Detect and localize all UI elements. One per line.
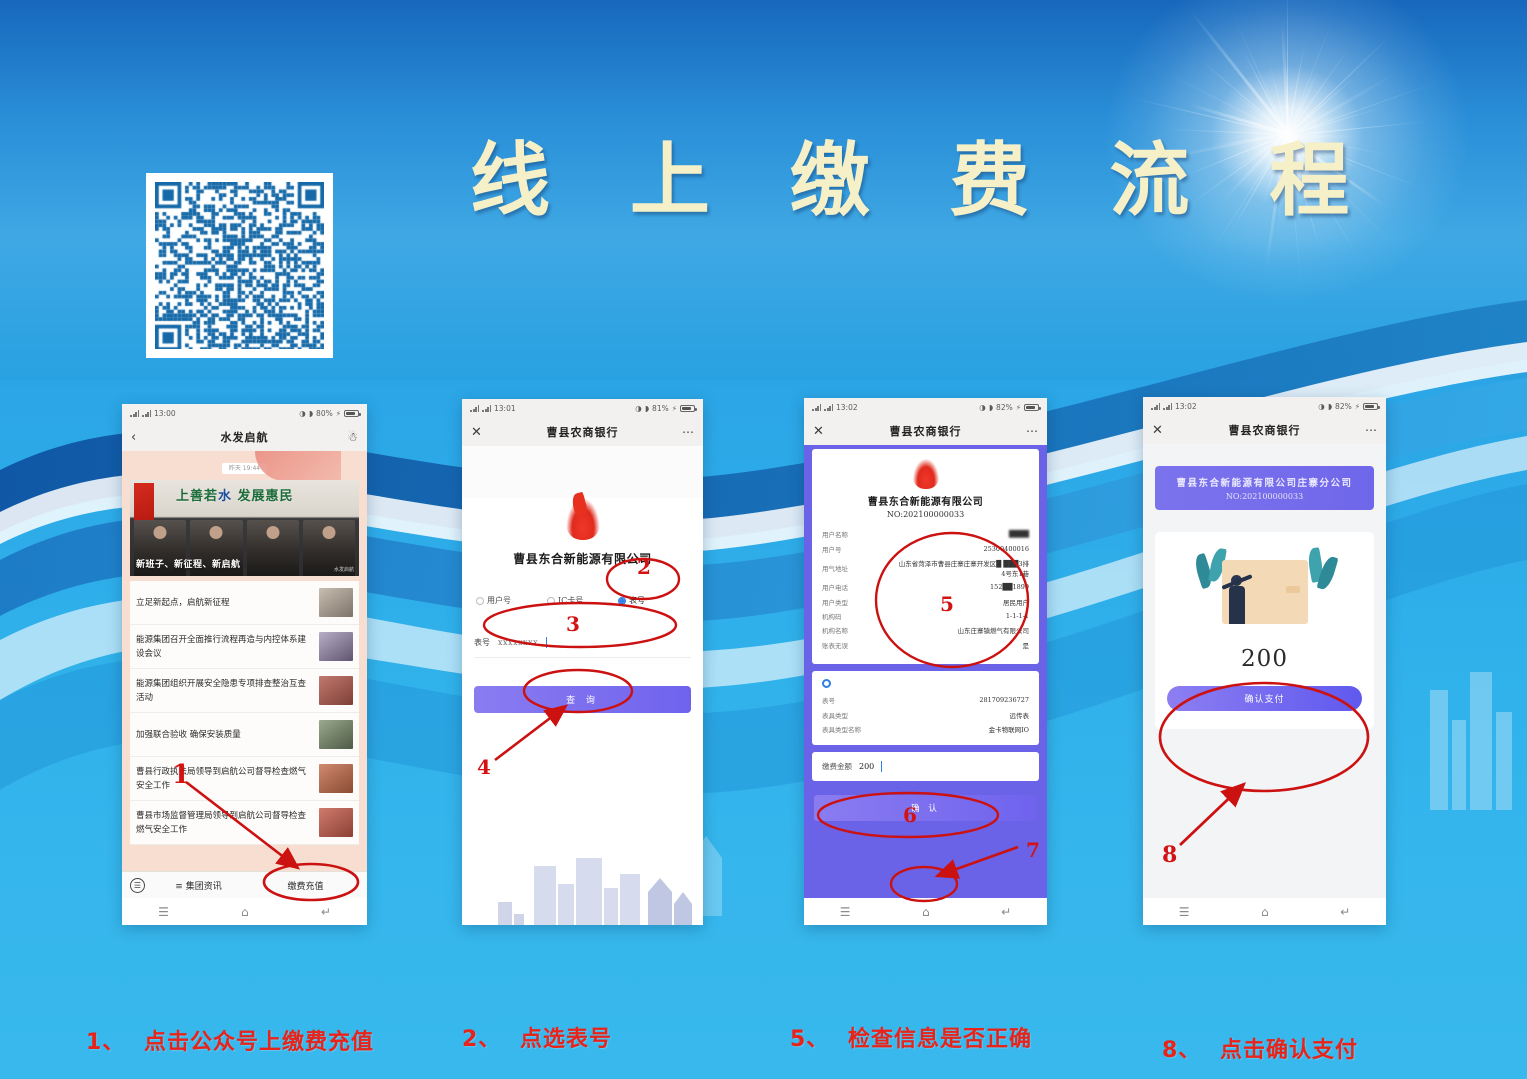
sim-icon: ◑ (1318, 402, 1325, 411)
charging-icon: ⚡ (1016, 403, 1021, 412)
android-nav-keys: ☰ ⌂ ↵ (1143, 898, 1386, 925)
caption-index: 1、 (86, 1026, 144, 1060)
sim-icon: ◑ (299, 409, 306, 418)
signal-icon (470, 405, 479, 412)
phone-screenshot-1: 13:00 ◑ ◗ 80% ⚡ ‹ 水发启航 ☃ 昨天 19:44 上善若水 发… (122, 404, 367, 925)
status-time: 13:01 (494, 404, 516, 413)
back-icon[interactable]: ↵ (1001, 905, 1011, 919)
tab-payment-recharge[interactable]: 缴费充值 (252, 879, 359, 892)
account-no: NO:202100000033 (1161, 492, 1368, 501)
home-icon[interactable]: ⌂ (241, 905, 249, 919)
signal-icon (812, 404, 821, 411)
annotation-number-3: 3 (566, 612, 580, 636)
battery-percent: 81% (652, 404, 669, 413)
row-label: 机构码 (822, 611, 842, 621)
radio-dot (547, 597, 555, 605)
list-item[interactable]: 曹县市场监督管理局领导到启航公司督导检查燃气安全工作 (130, 801, 359, 845)
radio-meter-number[interactable]: 表号 (618, 595, 689, 606)
battery-icon (1363, 403, 1378, 410)
decorative-swoosh (255, 451, 341, 481)
row-value: 金卡物联网IO (989, 724, 1029, 734)
nav-title: 曹县农商银行 (804, 423, 1047, 439)
caption-text: 点击公众号上缴费充值 (144, 1030, 374, 1055)
charging-icon: ⚡ (672, 404, 677, 413)
payment-amount-input[interactable]: 缴费金额 200 (812, 752, 1039, 781)
wifi-icon: ◗ (645, 404, 649, 413)
back-chevron-icon[interactable]: ‹ (131, 430, 136, 445)
android-nav-keys: ☰ ⌂ ↵ (804, 898, 1047, 925)
account-info-rows: 用户名称████ 用户号25300400016 用气地址山东省菏泽市曹县庄寨庄寨… (822, 527, 1029, 652)
home-icon[interactable]: ⌂ (922, 905, 930, 919)
table-row: 账表无误是 (822, 638, 1029, 652)
battery-icon (344, 410, 359, 417)
row-label: 机构名称 (822, 625, 848, 635)
article-thumbnail (319, 588, 353, 617)
nav-bar: ✕ 曹县农商银行 ⋯ (804, 417, 1047, 445)
radio-label: 用户号 (487, 595, 511, 606)
signal-icon (130, 410, 139, 417)
battery-percent: 80% (316, 409, 333, 418)
phone-screenshot-4: 13:02 ◑ ◗ 82% ⚡ ✕ 曹县农商银行 ⋯ 曹县东合新能源有限公司庄寨… (1143, 397, 1386, 925)
article-title: 曹县市场监督管理局领导到启航公司督导检查燃气安全工作 (136, 809, 313, 837)
table-row: 用气地址山东省菏泽市曹县庄寨庄寨开发区█ ███3排4号东1巷 (822, 556, 1029, 580)
phone-screenshot-3: 13:02 ◑ ◗ 82% ⚡ ✕ 曹县农商银行 ⋯ 曹县东合新能源有限公司 N… (804, 398, 1047, 925)
row-value: 281709236727 (979, 696, 1029, 704)
flag-decoration (134, 483, 154, 523)
meter-number-input[interactable]: 表号 xxxxxxxx (474, 628, 691, 658)
hero-caption: 新班子、新征程、新启航 (136, 557, 241, 570)
signal-icon-2 (1163, 403, 1172, 410)
package-illustration (1167, 546, 1362, 638)
list-item[interactable]: 曹县行政执法局领导到启航公司督导检查燃气安全工作 (130, 757, 359, 801)
caption-text: 点选表号 (520, 1027, 612, 1052)
qr-code[interactable] (146, 173, 333, 358)
annotation-number-5: 5 (940, 592, 954, 616)
annotation-number-8: 8 (1162, 842, 1177, 868)
signal-icon-2 (142, 410, 151, 417)
table-row: 表具类型名称金卡物联网IO (822, 722, 1029, 736)
annotation-number-1: 1 (172, 760, 190, 790)
signal-icon-2 (824, 404, 833, 411)
confirm-payment-button[interactable]: 确认支付 (1167, 686, 1362, 711)
more-dots-icon[interactable]: ⋯ (1365, 423, 1377, 437)
article-title: 能源集团召开全面推行流程再造与内控体系建设会议 (136, 633, 313, 661)
menu-icon[interactable]: ☰ (1179, 905, 1190, 919)
caption-group-4: 8、点击确认支付 (1162, 966, 1358, 1079)
row-label: 账表无误 (822, 640, 848, 650)
android-nav-keys: ☰ ⌂ ↵ (122, 898, 367, 925)
meter-query-form: 曹县东合新能源有限公司 用户号 IC卡号 表号 表号 xxxxxxxx 查 询 (462, 498, 703, 925)
article-thumbnail (319, 764, 353, 793)
nav-title: 曹县农商银行 (462, 424, 703, 440)
slogan-part-a: 上善若 (176, 489, 218, 504)
article-list: 立足新起点，启航新征程 能源集团召开全面推行流程再造与内控体系建设会议 能源集团… (130, 581, 359, 845)
caption-line: 5、检查信息是否正确 (790, 1023, 1032, 1057)
row-label: 用户类型 (822, 597, 848, 607)
row-value: ████ (1009, 530, 1029, 538)
table-row: 用户类型居民用户 (822, 595, 1029, 609)
row-label: 表号 (822, 695, 835, 705)
article-thumbnail (319, 808, 353, 837)
nav-bar: ‹ 水发启航 ☃ (122, 423, 367, 451)
caption-index: 8、 (1162, 1034, 1220, 1068)
bottom-tab-bar: ☰ ≡ 集团资讯 缴费充值 (122, 871, 367, 898)
table-row: 表具类型远传表 (822, 707, 1029, 721)
table-row: 机构码1-1-1-1 (822, 609, 1029, 623)
radio-dot (476, 597, 484, 605)
article-title: 加强联合验收 确保安装质量 (136, 728, 313, 742)
caption-line: 2、点选表号 (462, 1023, 612, 1057)
status-time: 13:02 (1175, 402, 1197, 411)
sim-icon: ◑ (635, 404, 642, 413)
radio-ic-card-number[interactable]: IC卡号 (547, 595, 618, 606)
more-dots-icon[interactable]: ⋯ (682, 425, 694, 439)
row-label: 表具类型 (822, 710, 848, 720)
annotation-number-7: 7 (1026, 838, 1040, 862)
row-value: 是 (1023, 640, 1030, 650)
confirm-button[interactable]: 确 认 (814, 795, 1037, 821)
company-name: 曹县东合新能源有限公司 (462, 550, 703, 567)
account-type-radio-group: 用户号 IC卡号 表号 (462, 595, 703, 606)
row-value: 居民用户 (1003, 597, 1029, 607)
status-time: 13:00 (154, 409, 176, 418)
list-item[interactable]: 能源集团召开全面推行流程再造与内控体系建设会议 (130, 625, 359, 669)
list-item[interactable]: 立足新起点，启航新征程 (130, 581, 359, 625)
radio-label: IC卡号 (558, 595, 583, 606)
row-label: 用户电话 (822, 582, 848, 592)
hero-article-card[interactable]: 上善若水 发展惠民 新班子、新征程、新启航 水发启航 (130, 480, 359, 576)
annotation-number-6: 6 (903, 803, 917, 827)
battery-percent: 82% (996, 403, 1013, 412)
row-value: 1-1-1-1 (1006, 612, 1029, 620)
nav-title: 水发启航 (122, 429, 367, 445)
row-label: 表具类型名称 (822, 724, 861, 734)
amount-label: 缴费金额 (822, 761, 852, 772)
tab-group-news[interactable]: ≡ 集团资讯 (145, 879, 252, 892)
sim-icon: ◑ (979, 403, 986, 412)
city-illustration (462, 840, 703, 925)
input-label: 表号 (474, 637, 490, 648)
account-detail-page: 曹县东合新能源有限公司 NO:202100000033 用户名称████ 用户号… (804, 445, 1047, 925)
wifi-icon: ◗ (1328, 402, 1332, 411)
table-row: 机构名称山东庄寨镇燃气有限公司 (822, 623, 1029, 637)
caption-index: 2、 (462, 1023, 520, 1057)
hero-slogan: 上善若水 发展惠民 (176, 485, 294, 504)
battery-icon (680, 405, 695, 412)
payment-amount: 200 (1167, 646, 1362, 672)
row-value: 山东省菏泽市曹县庄寨庄寨开发区█ ███3排4号东1巷 (897, 558, 1029, 578)
payment-confirm-page: 曹县东合新能源有限公司庄寨分公司 NO:202100000033 200 确认支… (1143, 444, 1386, 925)
annotation-number-2: 2 (637, 555, 651, 579)
menu-icon[interactable]: ☰ (840, 905, 851, 919)
row-label: 用户名称 (822, 529, 848, 539)
payment-card: 200 确认支付 (1155, 532, 1374, 729)
caption-group-3: 5、检查信息是否正确 6、输入充值金额 7、检查无误点击确认 (790, 955, 1032, 1079)
hero-watermark: 水发启航 (334, 566, 354, 573)
account-no: NO:202100000033 (822, 510, 1029, 519)
article-thumbnail (319, 632, 353, 661)
home-icon[interactable]: ⌂ (1261, 905, 1269, 919)
company-name: 曹县东合新能源有限公司 (822, 493, 1029, 508)
menu-icon[interactable]: ☰ (158, 905, 169, 919)
slogan-part-c: 发展惠民 (232, 489, 294, 504)
row-value: 25300400016 (984, 545, 1030, 553)
annotation-number-4: 4 (477, 755, 491, 779)
row-label: 用户号 (822, 544, 842, 554)
caption-text: 点击确认支付 (1220, 1038, 1358, 1063)
caption-text: 检查信息是否正确 (848, 1027, 1032, 1052)
nav-bar: ✕ 曹县农商银行 ⋯ (1143, 416, 1386, 444)
row-value: 山东庄寨镇燃气有限公司 (958, 625, 1030, 635)
flame-logo-icon (913, 459, 939, 489)
radio-label: 表号 (629, 595, 645, 606)
status-time: 13:02 (836, 403, 858, 412)
caption-group-1: 1、点击公众号上缴费充值 或者扫二维码 (86, 958, 374, 1079)
signal-icon-2 (482, 405, 491, 412)
person-illustration (1229, 586, 1245, 624)
close-icon[interactable]: ✕ (1152, 423, 1163, 438)
input-value: xxxxxxxx (498, 638, 538, 647)
company-name: 曹县东合新能源有限公司庄寨分公司 (1161, 475, 1368, 489)
wifi-icon: ◗ (989, 403, 993, 412)
back-icon[interactable]: ↵ (1340, 905, 1350, 919)
close-icon[interactable]: ✕ (813, 424, 824, 439)
text-caret (881, 761, 882, 772)
page-title: 线 上 缴 费 流 程 (470, 125, 1310, 235)
nav-title: 曹县农商银行 (1143, 422, 1386, 438)
charging-icon: ⚡ (1355, 402, 1360, 411)
person-icon[interactable]: ☃ (347, 430, 358, 444)
meter-info-card[interactable]: 表号281709236727 表具类型远传表 表具类型名称金卡物联网IO (812, 671, 1039, 745)
charging-icon: ⚡ (336, 409, 341, 418)
wifi-icon: ◗ (309, 409, 313, 418)
list-item[interactable]: 加强联合验收 确保安装质量 (130, 713, 359, 757)
article-thumbnail (319, 720, 353, 749)
radio-dot-selected (618, 597, 626, 605)
more-dots-icon[interactable]: ⋯ (1026, 424, 1038, 438)
table-row: 用户名称████ (822, 527, 1029, 541)
status-bar: 13:02 ◑ ◗ 82% ⚡ (804, 398, 1047, 417)
slogan-part-b: 水 (218, 489, 232, 504)
query-button[interactable]: 查 询 (474, 686, 691, 713)
table-row: 用户号25300400016 (822, 541, 1029, 555)
table-row: 用户电话152██1899 (822, 580, 1029, 594)
battery-icon (1024, 404, 1039, 411)
flame-logo-icon (566, 498, 600, 540)
close-icon[interactable]: ✕ (471, 425, 482, 440)
status-bar: 13:01 ◑ ◗ 81% ⚡ (462, 399, 703, 418)
company-banner: 曹县东合新能源有限公司庄寨分公司 NO:202100000033 (1155, 466, 1374, 510)
article-feed: 昨天 19:44 上善若水 发展惠民 新班子、新征程、新启航 水发启航 立足新起… (122, 451, 367, 925)
back-icon[interactable]: ↵ (321, 905, 331, 919)
table-row: 表号281709236727 (822, 693, 1029, 707)
caption-line: 8、点击确认支付 (1162, 1034, 1358, 1068)
row-label: 用气地址 (822, 563, 848, 573)
radio-user-number[interactable]: 用户号 (476, 595, 547, 606)
account-info-card: 曹县东合新能源有限公司 NO:202100000033 用户名称████ 用户号… (812, 449, 1039, 664)
article-title: 曹县行政执法局领导到启航公司督导检查燃气安全工作 (136, 765, 313, 793)
status-bar: 13:00 ◑ ◗ 80% ⚡ (122, 404, 367, 423)
caption-index: 5、 (790, 1023, 848, 1057)
signal-icon (1151, 403, 1160, 410)
phone-screenshot-2: 13:01 ◑ ◗ 81% ⚡ ✕ 曹县农商银行 ⋯ 曹县东合新能源有限公司 用… (462, 399, 703, 925)
amount-value: 200 (859, 762, 874, 771)
list-item[interactable]: 能源集团组织开展安全隐患专项排查整治互查活动 (130, 669, 359, 713)
caption-group-2: 2、点选表号 3、输入表号 4、点击查询 (462, 955, 612, 1079)
nav-bar: ✕ 曹县农商银行 ⋯ (462, 418, 703, 446)
battery-percent: 82% (1335, 402, 1352, 411)
article-thumbnail (319, 676, 353, 705)
status-bar: 13:02 ◑ ◗ 82% ⚡ (1143, 397, 1386, 416)
text-caret (546, 637, 547, 648)
row-value: 152██1899 (990, 583, 1029, 591)
row-value: 远传表 (1010, 710, 1030, 720)
caption-line: 1、点击公众号上缴费充值 (86, 1026, 374, 1060)
article-title: 能源集团组织开展安全隐患专项排查整治互查活动 (136, 677, 313, 705)
meter-selected-radio[interactable] (822, 679, 831, 688)
article-title: 立足新起点，启航新征程 (136, 596, 313, 610)
keyboard-icon[interactable]: ☰ (130, 878, 145, 893)
